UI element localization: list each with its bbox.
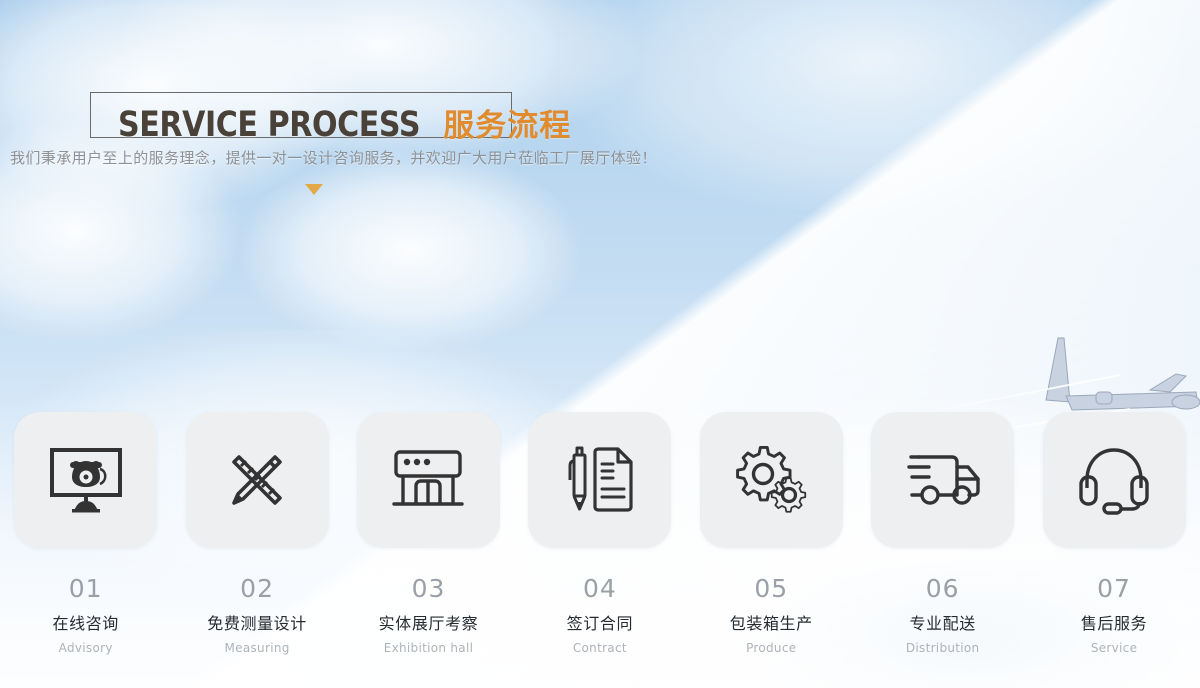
headset-icon (1076, 444, 1152, 516)
step-label-cn: 包装箱生产 (730, 610, 813, 634)
step-number: 01 (69, 574, 103, 603)
step-number: 03 (412, 574, 446, 603)
step-label-en: Contract (573, 641, 627, 655)
step-icon-card[interactable] (528, 412, 671, 548)
step-label-cn: 在线咨询 (52, 610, 118, 634)
process-step[interactable]: 03 实体展厅考察 Exhibition hall (343, 412, 514, 655)
step-label-en: Exhibition hall (384, 641, 474, 655)
process-step[interactable]: 07 售后服务 Service (1028, 412, 1199, 655)
step-number: 02 (240, 574, 274, 603)
step-icon-card[interactable] (700, 412, 843, 548)
section-subtitle: 我们秉承用户至上的服务理念，提供一对一设计咨询服务，并欢迎广大用户莅临工厂展厅体… (10, 147, 657, 168)
step-number: 06 (926, 574, 960, 603)
step-label-cn: 免费测量设计 (207, 610, 307, 634)
step-label-en: Produce (746, 641, 796, 655)
step-label-cn: 签订合同 (567, 610, 633, 634)
pen-document-icon (563, 444, 637, 516)
title-english: SERVICE PROCESS (118, 105, 420, 145)
step-label-cn: 专业配送 (909, 610, 975, 634)
process-step[interactable]: 02 免费测量设计 Measuring (171, 412, 342, 655)
step-number: 04 (583, 574, 617, 603)
ruler-pencil-icon (221, 444, 293, 516)
step-label-en: Service (1091, 641, 1137, 655)
step-label-cn: 实体展厅考察 (379, 610, 479, 634)
delivery-truck-icon (901, 451, 985, 509)
page-title: SERVICE PROCESS 服务流程 (118, 100, 571, 145)
step-number: 05 (754, 574, 788, 603)
service-process-steps: 01 在线咨询 Advisory 02 免 (0, 412, 1200, 655)
step-icon-card[interactable] (186, 412, 329, 548)
chevron-down-icon (305, 184, 323, 195)
process-step[interactable]: 06 专业配送 Distribution (857, 412, 1028, 655)
process-step[interactable]: 04 签订合同 Contract (514, 412, 685, 655)
process-step[interactable]: 05 包装箱生产 Produce (686, 412, 857, 655)
step-icon-card[interactable] (871, 412, 1014, 548)
step-label-en: Measuring (225, 641, 290, 655)
step-label-en: Distribution (906, 641, 980, 655)
gears-icon (732, 443, 810, 517)
monitor-phone-icon (47, 445, 125, 515)
process-step[interactable]: 01 在线咨询 Advisory (0, 412, 171, 655)
step-label-en: Advisory (59, 641, 113, 655)
title-chinese: 服务流程 (443, 100, 571, 145)
storefront-icon (391, 448, 465, 512)
step-number: 07 (1097, 574, 1131, 603)
step-icon-card[interactable] (1043, 412, 1186, 548)
step-label-cn: 售后服务 (1081, 610, 1147, 634)
step-icon-card[interactable] (14, 412, 157, 548)
step-icon-card[interactable] (357, 412, 500, 548)
